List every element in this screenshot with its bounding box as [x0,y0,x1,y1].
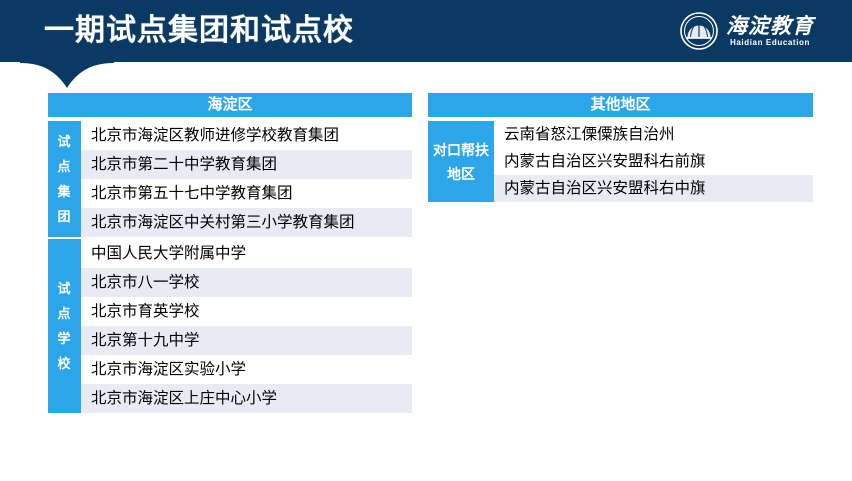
logo-name-cn: 海淀教育 [726,15,814,36]
group-label-pilot-schools: 试 点 学 校 [48,239,81,413]
brand-logo: 海淀教育 Haidian Education [680,9,814,53]
table-haidian-body: 试 点 集 团 北京市海淀区教师进修学校教育集团 北京市第二十中学教育集团 北京… [48,121,412,413]
group-rows-paired-assistance: 云南省怒江傈僳族自治州 内蒙古自治区兴安盟科右前旗 内蒙古自治区兴安盟科右中旗 [494,121,813,202]
group-label-line: 地区 [447,162,475,186]
table-row: 内蒙古自治区兴安盟科右中旗 [494,175,813,202]
table-row: 云南省怒江傈僳族自治州 [494,121,813,148]
table-other-regions-body: 对口帮扶 地区 云南省怒江傈僳族自治州 内蒙古自治区兴安盟科右前旗 内蒙古自治区… [428,121,813,202]
group-rows-pilot-schools: 中国人民大学附属中学 北京市八一学校 北京市育英学校 北京第十九中学 北京市海淀… [81,239,412,413]
table-row: 内蒙古自治区兴安盟科右前旗 [494,148,813,175]
table-row: 北京市海淀区实验小学 [81,355,412,384]
table-other-regions: 其他地区 对口帮扶 地区 云南省怒江傈僳族自治州 内蒙古自治区兴安盟科右前旗 内… [428,93,813,202]
group-label-char: 点 [57,154,71,179]
group-label-pilot-groups: 试 点 集 团 [48,121,81,237]
group-row-pilot-groups: 试 点 集 团 北京市海淀区教师进修学校教育集团 北京市第二十中学教育集团 北京… [48,121,412,237]
table-haidian: 海淀区 试 点 集 团 北京市海淀区教师进修学校教育集团 北京市第二十中学教育集… [48,93,412,413]
group-label-char: 点 [57,301,71,326]
logo-name-en: Haidian Education [730,39,810,47]
group-label-char: 学 [57,326,71,351]
group-label-line: 对口帮扶 [433,138,489,162]
group-rows-pilot-groups: 北京市海淀区教师进修学校教育集团 北京市第二十中学教育集团 北京市第五十七中学教… [81,121,412,237]
table-row: 北京市第五十七中学教育集团 [81,179,412,208]
table-row: 北京市八一学校 [81,268,412,297]
group-label-char: 团 [57,204,71,229]
group-row-paired-assistance: 对口帮扶 地区 云南省怒江傈僳族自治州 内蒙古自治区兴安盟科右前旗 内蒙古自治区… [428,121,813,202]
group-label-char: 校 [57,351,71,376]
table-row: 北京市海淀区上庄中心小学 [81,384,412,413]
page-title: 一期试点集团和试点校 [44,9,354,53]
header-drip-shape [20,62,114,88]
table-other-regions-header: 其他地区 [428,93,813,117]
group-label-paired-assistance: 对口帮扶 地区 [428,121,494,202]
group-label-char: 集 [57,179,71,204]
logo-text: 海淀教育 Haidian Education [726,15,814,47]
table-row: 中国人民大学附属中学 [81,239,412,268]
group-label-char: 试 [57,129,71,154]
table-haidian-header: 海淀区 [48,93,412,117]
table-row: 北京市第二十中学教育集团 [81,150,412,179]
table-row: 北京市海淀区中关村第三小学教育集团 [81,208,412,237]
table-row: 北京市育英学校 [81,297,412,326]
haidian-education-emblem-icon [680,12,718,50]
table-row: 北京市海淀区教师进修学校教育集团 [81,121,412,150]
group-row-pilot-schools: 试 点 学 校 中国人民大学附属中学 北京市八一学校 北京市育英学校 北京第十九… [48,239,412,413]
table-row: 北京第十九中学 [81,326,412,355]
group-label-char: 试 [57,276,71,301]
